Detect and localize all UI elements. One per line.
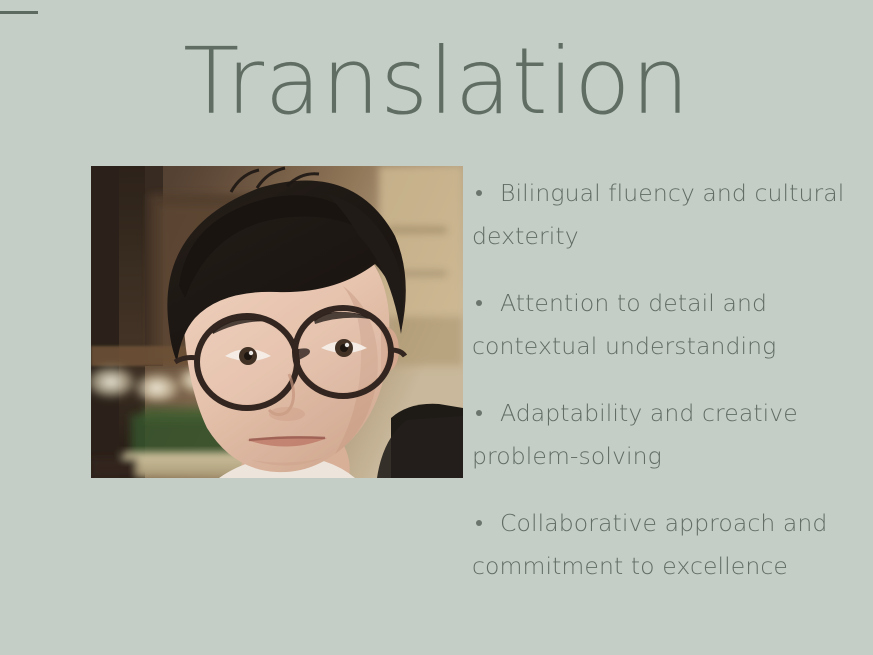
bullet-text: Adaptability and creative problem-solvin… bbox=[468, 392, 860, 478]
page-title: Translation bbox=[0, 36, 873, 128]
bullet-dot-icon bbox=[476, 410, 482, 416]
presentation-slide: Translation bbox=[0, 0, 873, 655]
portrait-photo-image bbox=[91, 166, 463, 478]
list-item: Adaptability and creative problem-solvin… bbox=[468, 392, 860, 478]
bullet-list: Bilingual fluency and cultural dexterity… bbox=[468, 172, 860, 588]
bullet-text: Attention to detail and contextual under… bbox=[468, 282, 860, 368]
portrait-photo bbox=[91, 166, 463, 478]
bullet-dot-icon bbox=[476, 190, 482, 196]
accent-rule-decoration bbox=[0, 11, 38, 14]
bullet-text: Collaborative approach and commitment to… bbox=[468, 502, 860, 588]
list-item: Attention to detail and contextual under… bbox=[468, 282, 860, 368]
bullet-dot-icon bbox=[476, 300, 482, 306]
list-item: Bilingual fluency and cultural dexterity bbox=[468, 172, 860, 258]
bullet-dot-icon bbox=[476, 520, 482, 526]
bullet-text: Bilingual fluency and cultural dexterity bbox=[468, 172, 860, 258]
list-item: Collaborative approach and commitment to… bbox=[468, 502, 860, 588]
